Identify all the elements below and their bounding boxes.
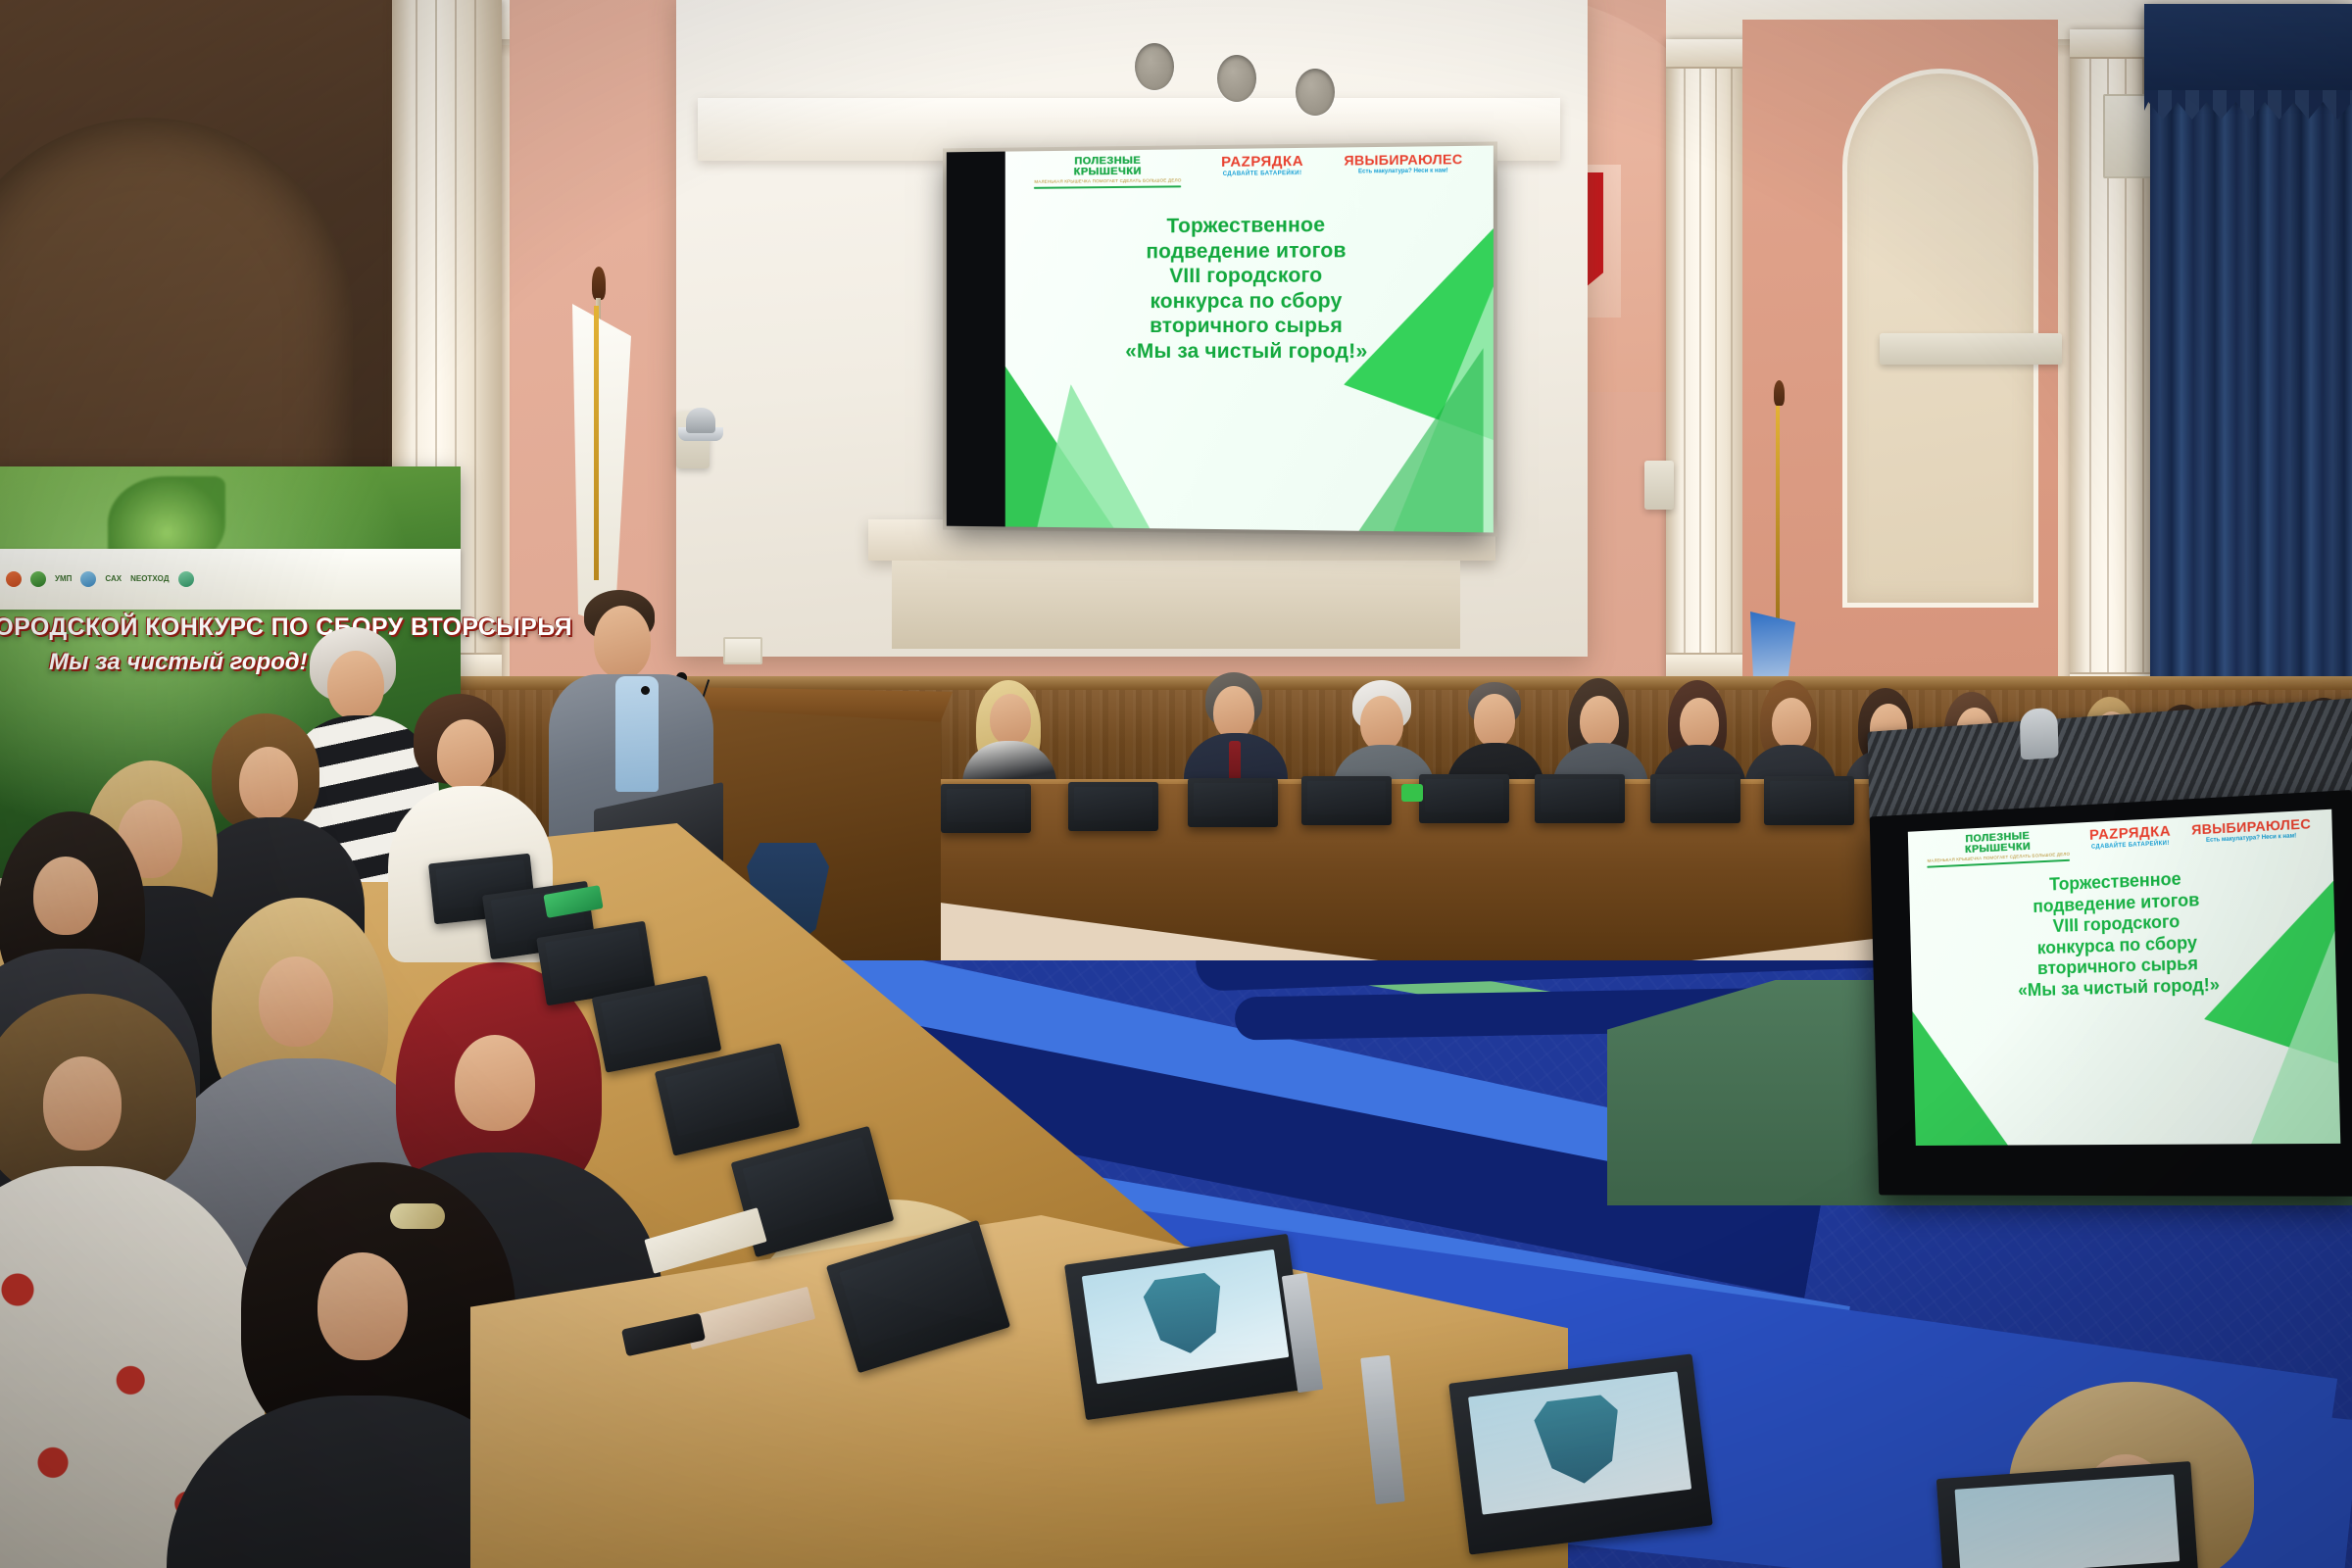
sponsor-icon-3 [80,571,96,587]
secondary-display-assembly[interactable]: ПОЛЕЗНЫЕ КРЫШЕЧКИ МАЛЕНЬКАЯ КРЫШЕЧКА ПОМ… [1870,790,2352,1197]
sponsor-icon-2 [30,571,46,587]
delegate-monitor-p2[interactable] [1068,782,1158,831]
secondary-display-bezel: ПОЛЕЗНЫЕ КРЫШЕЧКИ МАЛЕНЬКАЯ КРЫШЕЧКА ПОМ… [1870,790,2352,1197]
logo-razryadka: РАZРЯДКА СДАВАЙТЕ БАТАРЕЙКИ! [1221,154,1303,177]
banner-subline: Мы за чистый город! [49,649,461,676]
mon2-title-line-6: «Мы за чистый город!» [2018,975,2220,1001]
lapel-microphone-icon [641,686,650,695]
wall-air-vent [1880,333,2062,365]
logo-ya-vybirayu-les: ЯВЫБИРАЮЛЕС Есть макулатура? Неси к нам! [2191,816,2312,845]
flag-fringe-green [1776,406,1780,631]
sponsor-icon-1 [6,571,22,587]
presentation-slide: ПОЛЕЗНЫЕ КРЫШЕЧКИ МАЛЕНЬКАЯ КРЫШЕЧКА ПОМ… [1005,146,1494,533]
slide-title-line-2: подведение итогов [1026,237,1471,265]
delegate-monitor-p3[interactable] [1188,778,1278,827]
slide-title-line-4: конкурса по сбору [1026,288,1471,315]
sponsor-label-sah: САХ [105,575,122,583]
sponsor-label-umpp: УМП [55,575,72,583]
banner-sponsor-strip: УМП САХ NEOTXOД [0,549,461,610]
delegate-monitor-p1[interactable] [941,784,1031,833]
slide-title-line-6: «Мы за чистый город!» [1026,339,1471,365]
delegate-monitor-p6[interactable] [1535,774,1625,823]
delegate-monitor-b1[interactable] [1064,1234,1309,1420]
sponsor-icon-4 [178,571,194,587]
delegate-monitor-b3[interactable] [1936,1461,2199,1568]
speaker-shirt [615,676,659,792]
flag-finial-green [1774,380,1785,406]
mon2-slide-title: Торжественное подведение итогов VIII гор… [1909,861,2336,1004]
novosibirsk-crest-on-screen [1142,1271,1229,1359]
screen-letterbox-left [947,152,1005,527]
wall-speaker-right [1644,461,1674,510]
logo-tagline: Есть макулатура? Неси к нам! [1344,168,1462,174]
secondary-display-screen: ПОЛЕЗНЫЕ КРЫШЕЧКИ МАЛЕНЬКАЯ КРЫШЕЧКА ПОМ… [1908,809,2341,1146]
main-projection-screen[interactable]: ПОЛЕЗНЫЕ КРЫШЕЧКИ МАЛЕНЬКАЯ КРЫШЕЧКА ПОМ… [947,146,1494,533]
logo-tagline: СДАВАЙТЕ БАТАРЕЙКИ! [1221,171,1303,177]
logo-ya-vybirayu-les: ЯВЫБИРАЮЛЕС Есть макулатура? Неси к нам! [1344,152,1462,175]
ceiling-recess-dot-1 [1135,43,1174,90]
novosibirsk-crest-on-screen-2 [1532,1394,1626,1489]
hair-clip-accessory [390,1203,445,1229]
logo-poleznye-kryshechki: ПОЛЕЗНЫЕ КРЫШЕЧКИ МАЛЕНЬКАЯ КРЫШЕЧКА ПОМ… [1034,155,1181,188]
logo-poleznye-kryshechki: ПОЛЕЗНЫЕ КРЫШЕЧКИ МАЛЕНЬКАЯ КРЫШЕЧКА ПОМ… [1927,829,2070,867]
logo-razryadka: РАZРЯДКА СДАВАЙТЕ БАТАРЕЙКИ! [2089,824,2172,851]
mon2-title-line-5: вторичного сырья [2037,954,2198,978]
delegate-monitor-b2[interactable] [1448,1353,1713,1554]
sponsor-label-neotkhod: NEOTXOД [130,575,169,583]
logo-line-1: ЯВЫБИРАЮЛЕС [1344,152,1462,168]
green-desk-object [1401,784,1423,802]
logo-line-1: РАZРЯДКА [2089,824,2171,843]
ceiling-recess-dot-2 [1217,55,1256,102]
logo-tagline: МАЛЕНЬКАЯ КРЫШЕЧКА ПОМОГАЕТ СДЕЛАТЬ БОЛЬ… [1034,178,1181,184]
slide-title-line-1: Торжественное [1026,212,1471,240]
logo-underline [1034,185,1181,188]
banner-headline: ГОРОДСКОЙ КОНКУРС ПО СБОРУ ВТОРСЫРЬЯ [0,613,461,642]
logo-line-1: РАZРЯДКА [1221,154,1303,170]
delegate-monitor-p5[interactable] [1419,774,1509,823]
flag-finial-white [592,267,606,300]
logo-line-2: КРЫШЕЧКИ [1034,166,1181,178]
wall-control-plate [723,637,762,664]
equipment-knob[interactable] [2020,707,2059,759]
mon2-title-line-3: VIII городского [2052,911,2180,936]
cctv-camera [686,408,715,433]
council-chamber-photo: ПОЛЕЗНЫЕ КРЫШЕЧКИ МАЛЕНЬКАЯ КРЫШЕЧКА ПОМ… [0,0,2352,1568]
slide-title-line-5: вторичного сырья [1026,314,1471,339]
slide-title: Торжественное подведение итогов VIII гор… [1005,212,1494,365]
slide-logo-row: ПОЛЕЗНЫЕ КРЫШЕЧКИ МАЛЕНЬКАЯ КРЫШЕЧКА ПОМ… [1005,146,1494,208]
pilaster-right-inner [1666,39,1750,686]
flag-fringe-white [594,306,599,580]
projector-lower-step [892,561,1460,649]
ceiling-recess-dot-3 [1296,69,1335,116]
delegate-monitor-p7[interactable] [1650,774,1740,823]
delegate-monitor-p4[interactable] [1301,776,1392,825]
delegate-monitor-p8[interactable] [1764,776,1854,825]
slide-title-line-3: VIII городского [1026,263,1471,289]
curtain-valance [2144,4,2352,98]
